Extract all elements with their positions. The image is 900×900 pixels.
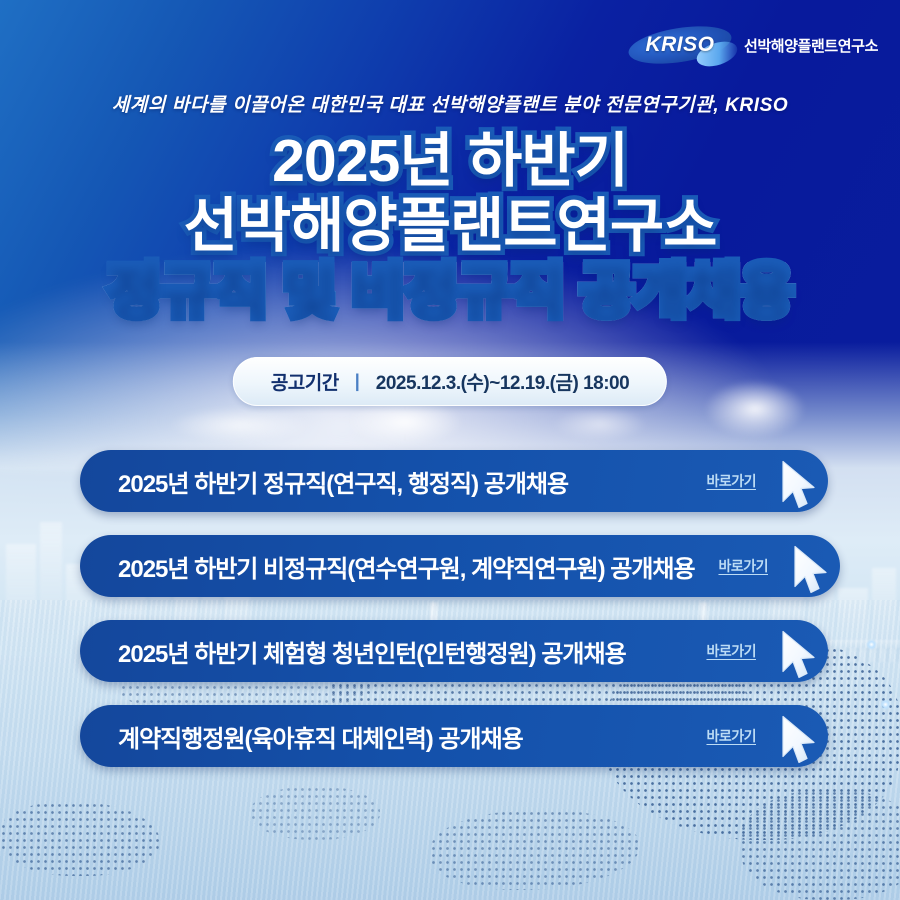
cloud-decoration [540,402,660,446]
recruitment-link-contract-admin[interactable]: 계약직행정원(육아휴직 대체인력) 공개채용 바로가기 [80,705,828,767]
poster-headline: 2025년 하반기 선박해양플랜트연구소 정규직 및 비정규직 공개채용 [0,132,900,321]
kriso-logo: KRISO 선박해양플랜트연구소 [628,28,878,62]
recruitment-link-nonregular-positions[interactable]: 2025년 하반기 비정규직(연수연구원, 계약직연구원) 공개채용 바로가기 [80,535,840,597]
institute-name: 선박해양플랜트연구소 [744,35,878,56]
link-label: 2025년 하반기 체험형 청년인턴(인턴행정원) 공개채용 [118,634,626,669]
cloud-decoration [690,372,820,446]
cursor-pointer-icon [774,627,820,683]
cursor-pointer-icon [774,457,820,513]
recruitment-link-list: 2025년 하반기 정규직(연구직, 행정직) 공개채용 바로가기 2025년 … [80,450,840,790]
cursor-pointer-icon [774,712,820,768]
goto-link[interactable]: 바로가기 [718,556,768,576]
goto-link[interactable]: 바로가기 [706,641,756,661]
headline-line-3: 정규직 및 비정규직 공개채용 [0,262,900,321]
posting-period-separator: | [355,371,360,392]
tagline: 세계의 바다를 이끌어온 대한민국 대표 선박해양플랜트 분야 전문연구기관, … [0,90,900,117]
posting-period-banner: 공고기간 | 2025.12.3.(수)~12.19.(금) 18:00 [233,357,667,406]
posting-period-value: 2025.12.3.(수)~12.19.(금) 18:00 [376,368,629,395]
posting-period-label: 공고기간 [271,368,339,395]
goto-link[interactable]: 바로가기 [706,471,756,491]
recruitment-poster: KRISO 선박해양플랜트연구소 세계의 바다를 이끌어온 대한민국 대표 선박… [0,0,900,900]
kriso-logo-mark: KRISO [628,28,732,62]
cursor-pointer-icon [786,542,832,598]
recruitment-link-regular-positions[interactable]: 2025년 하반기 정규직(연구직, 행정직) 공개채용 바로가기 [80,450,828,512]
link-label: 2025년 하반기 정규직(연구직, 행정직) 공개채용 [118,464,568,499]
headline-line-2: 선박해양플랜트연구소 [0,197,900,256]
link-label: 2025년 하반기 비정규직(연수연구원, 계약직연구원) 공개채용 [118,549,695,584]
goto-link[interactable]: 바로가기 [706,726,756,746]
cloud-decoration [150,402,330,448]
kriso-wordmark: KRISO [645,33,714,57]
recruitment-link-youth-intern[interactable]: 2025년 하반기 체험형 청년인턴(인턴행정원) 공개채용 바로가기 [80,620,828,682]
link-label: 계약직행정원(육아휴직 대체인력) 공개채용 [118,719,523,754]
headline-line-1: 2025년 하반기 [0,132,900,191]
